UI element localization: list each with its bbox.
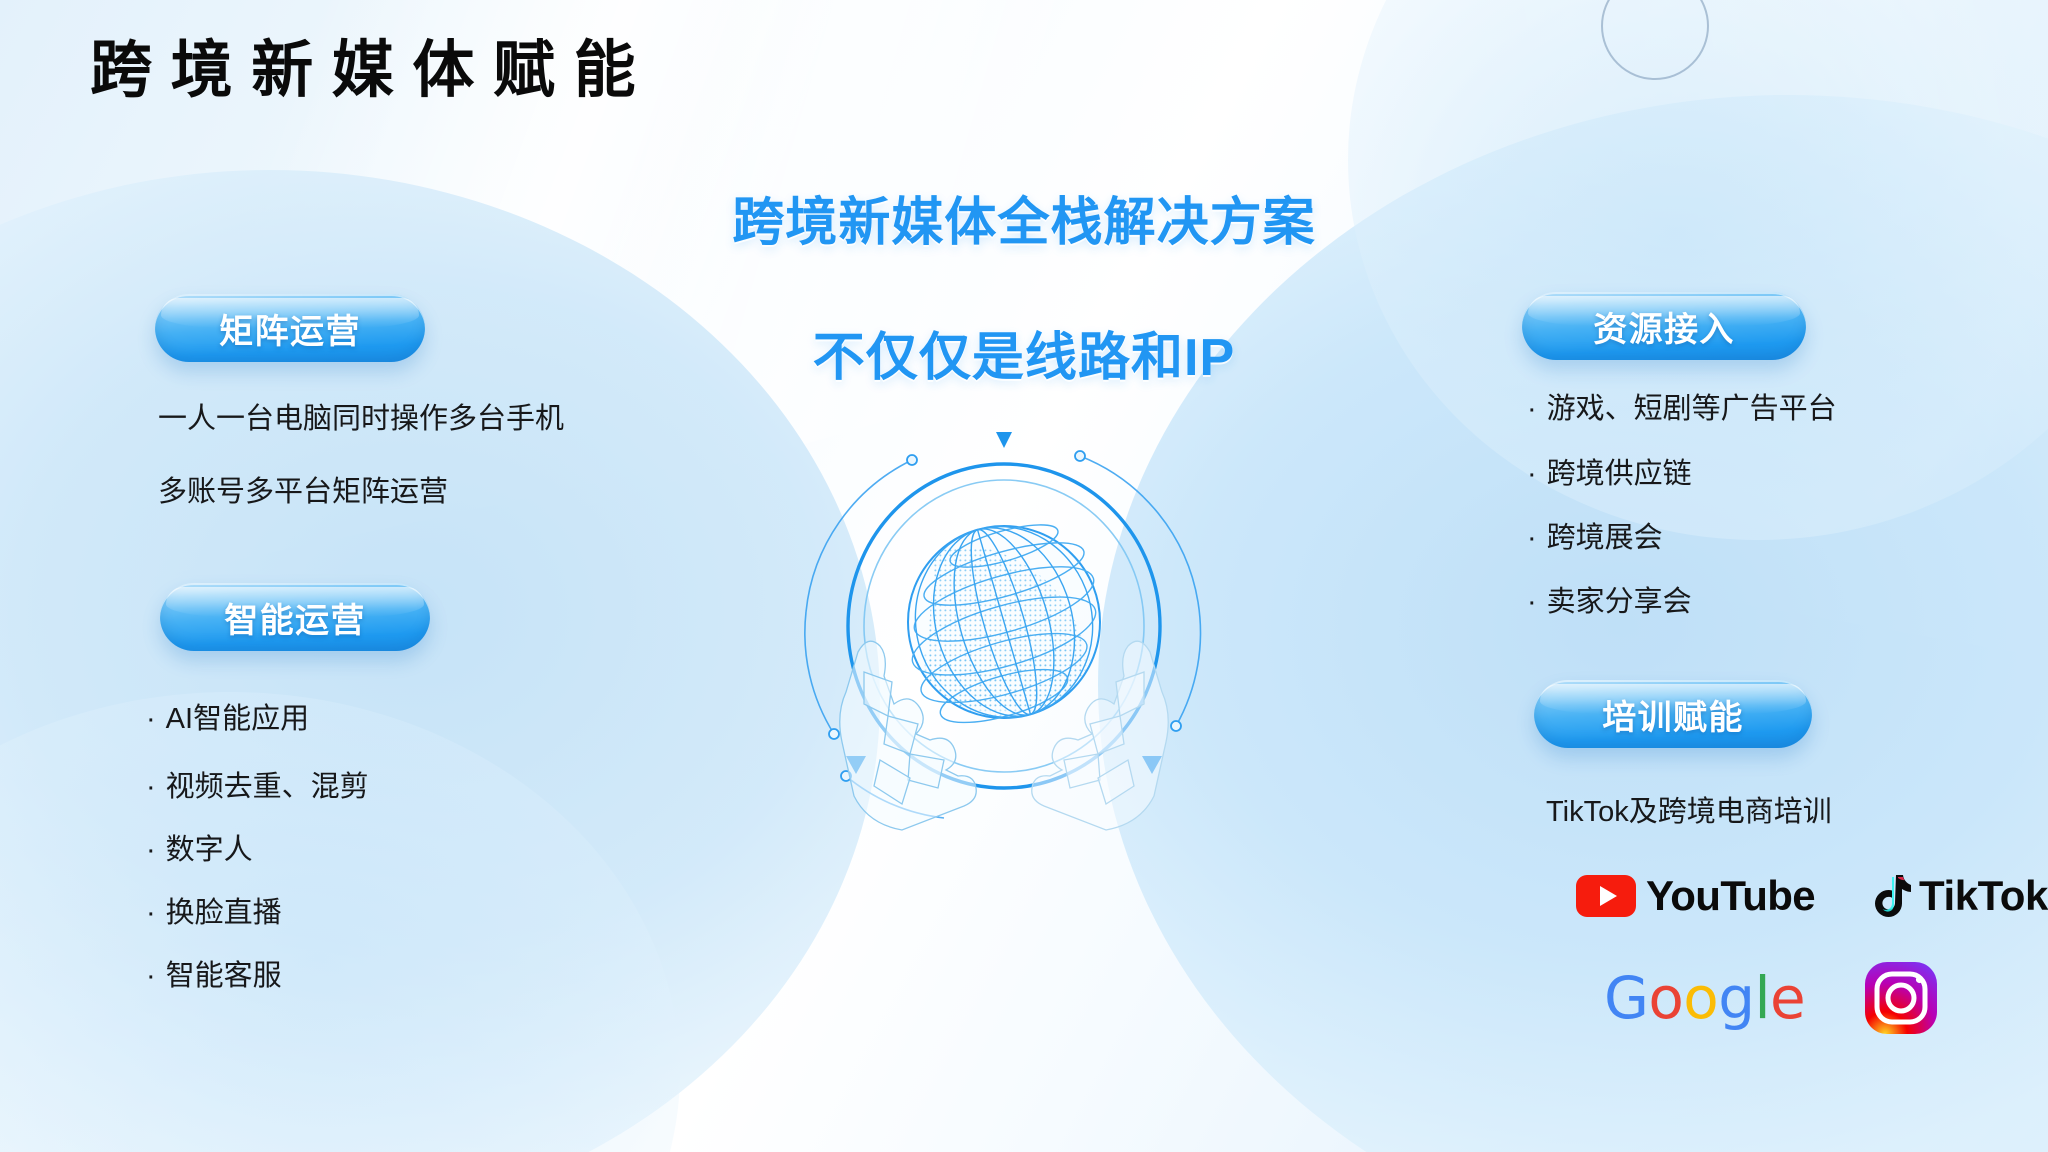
google-letter-o2: o [1683,964,1718,1032]
pill-smart-operations[interactable]: 智能运营 [160,583,430,651]
bullet-marker: · [146,960,156,992]
wireframe-globe-in-hands-icon [784,404,1224,844]
page-title: 跨境新媒体赋能 [90,40,654,102]
google-letter-g1: G [1604,964,1648,1032]
right-text-line: TikTok及跨境电商培训 [1546,798,1832,827]
bullet-marker: · [146,897,156,929]
left-bullet-item: ·视频去重、混剪 [146,773,369,802]
bullet-text: 跨境供应链 [1547,458,1692,490]
pill-training-empowerment[interactable]: 培训赋能 [1534,680,1812,748]
bullet-marker: · [1527,522,1537,554]
tiktok-label: TikTok [1919,872,2048,920]
left-bullet-item: ·智能客服 [146,962,282,991]
pill-matrix-operations[interactable]: 矩阵运营 [155,294,425,362]
google-letter-g2: g [1718,964,1754,1032]
logo-row-top: YouTube TikTok [1576,872,2048,920]
pill-label: 资源接入 [1593,302,1734,351]
right-bullet-item: ·游戏、短剧等广告平台 [1527,395,1837,424]
bullet-marker: · [146,703,156,735]
bullet-text: 视频去重、混剪 [166,771,369,803]
tiktok-logo[interactable]: TikTok [1871,872,2048,920]
youtube-label: YouTube [1646,872,1815,920]
top-right-background-blob [1348,0,2048,540]
pill-label: 矩阵运营 [219,304,360,353]
youtube-logo[interactable]: YouTube [1576,872,1815,920]
bullet-marker: · [1527,393,1537,425]
slide-canvas: 跨境新媒体赋能 跨境新媒体全栈解决方案 不仅仅是线路和IP [0,0,2048,1152]
bullet-marker: · [1527,586,1537,618]
bullet-text: 数字人 [166,834,253,866]
youtube-play-icon [1576,875,1636,917]
bullet-marker: · [1527,458,1537,490]
google-letter-o1: o [1648,964,1683,1032]
bullet-text: 换脸直播 [166,897,282,929]
bullet-text: 卖家分享会 [1547,586,1692,618]
instagram-logo[interactable] [1863,960,1939,1036]
bullet-text: 游戏、短剧等广告平台 [1547,393,1837,425]
bullet-marker: · [146,834,156,866]
left-bullet-item: ·换脸直播 [146,899,282,928]
right-bullet-item: ·跨境展会 [1527,524,1663,553]
bullet-text: 智能客服 [166,960,282,992]
left-text-line: 一人一台电脑同时操作多台手机 [158,405,564,434]
google-letter-l: l [1754,964,1770,1032]
right-bullet-item: ·跨境供应链 [1527,460,1692,489]
logo-row-bottom: Google [1604,960,1939,1036]
pill-resource-access[interactable]: 资源接入 [1522,292,1806,360]
globe-wireframe [893,505,1115,738]
bottom-left-background-blob [0,692,680,1152]
pill-label: 培训赋能 [1602,690,1743,739]
google-letter-e: e [1770,964,1805,1032]
tiktok-note-icon [1871,873,1911,919]
globe-graphic [784,404,1224,844]
bullet-text: AI智能应用 [166,703,309,735]
left-text-line: 多账号多平台矩阵运营 [158,478,448,507]
decorative-circle-outline [1601,0,1709,80]
google-logo[interactable]: Google [1604,964,1805,1032]
center-heading-primary: 跨境新媒体全栈解决方案 [0,180,2048,255]
instagram-camera-icon [1863,960,1939,1036]
left-bullet-item: ·AI智能应用 [146,705,309,734]
bullet-text: 跨境展会 [1547,522,1663,554]
bullet-marker: · [146,771,156,803]
pill-label: 智能运营 [224,593,365,642]
right-bullet-item: ·卖家分享会 [1527,588,1692,617]
left-bullet-item: ·数字人 [146,836,253,865]
